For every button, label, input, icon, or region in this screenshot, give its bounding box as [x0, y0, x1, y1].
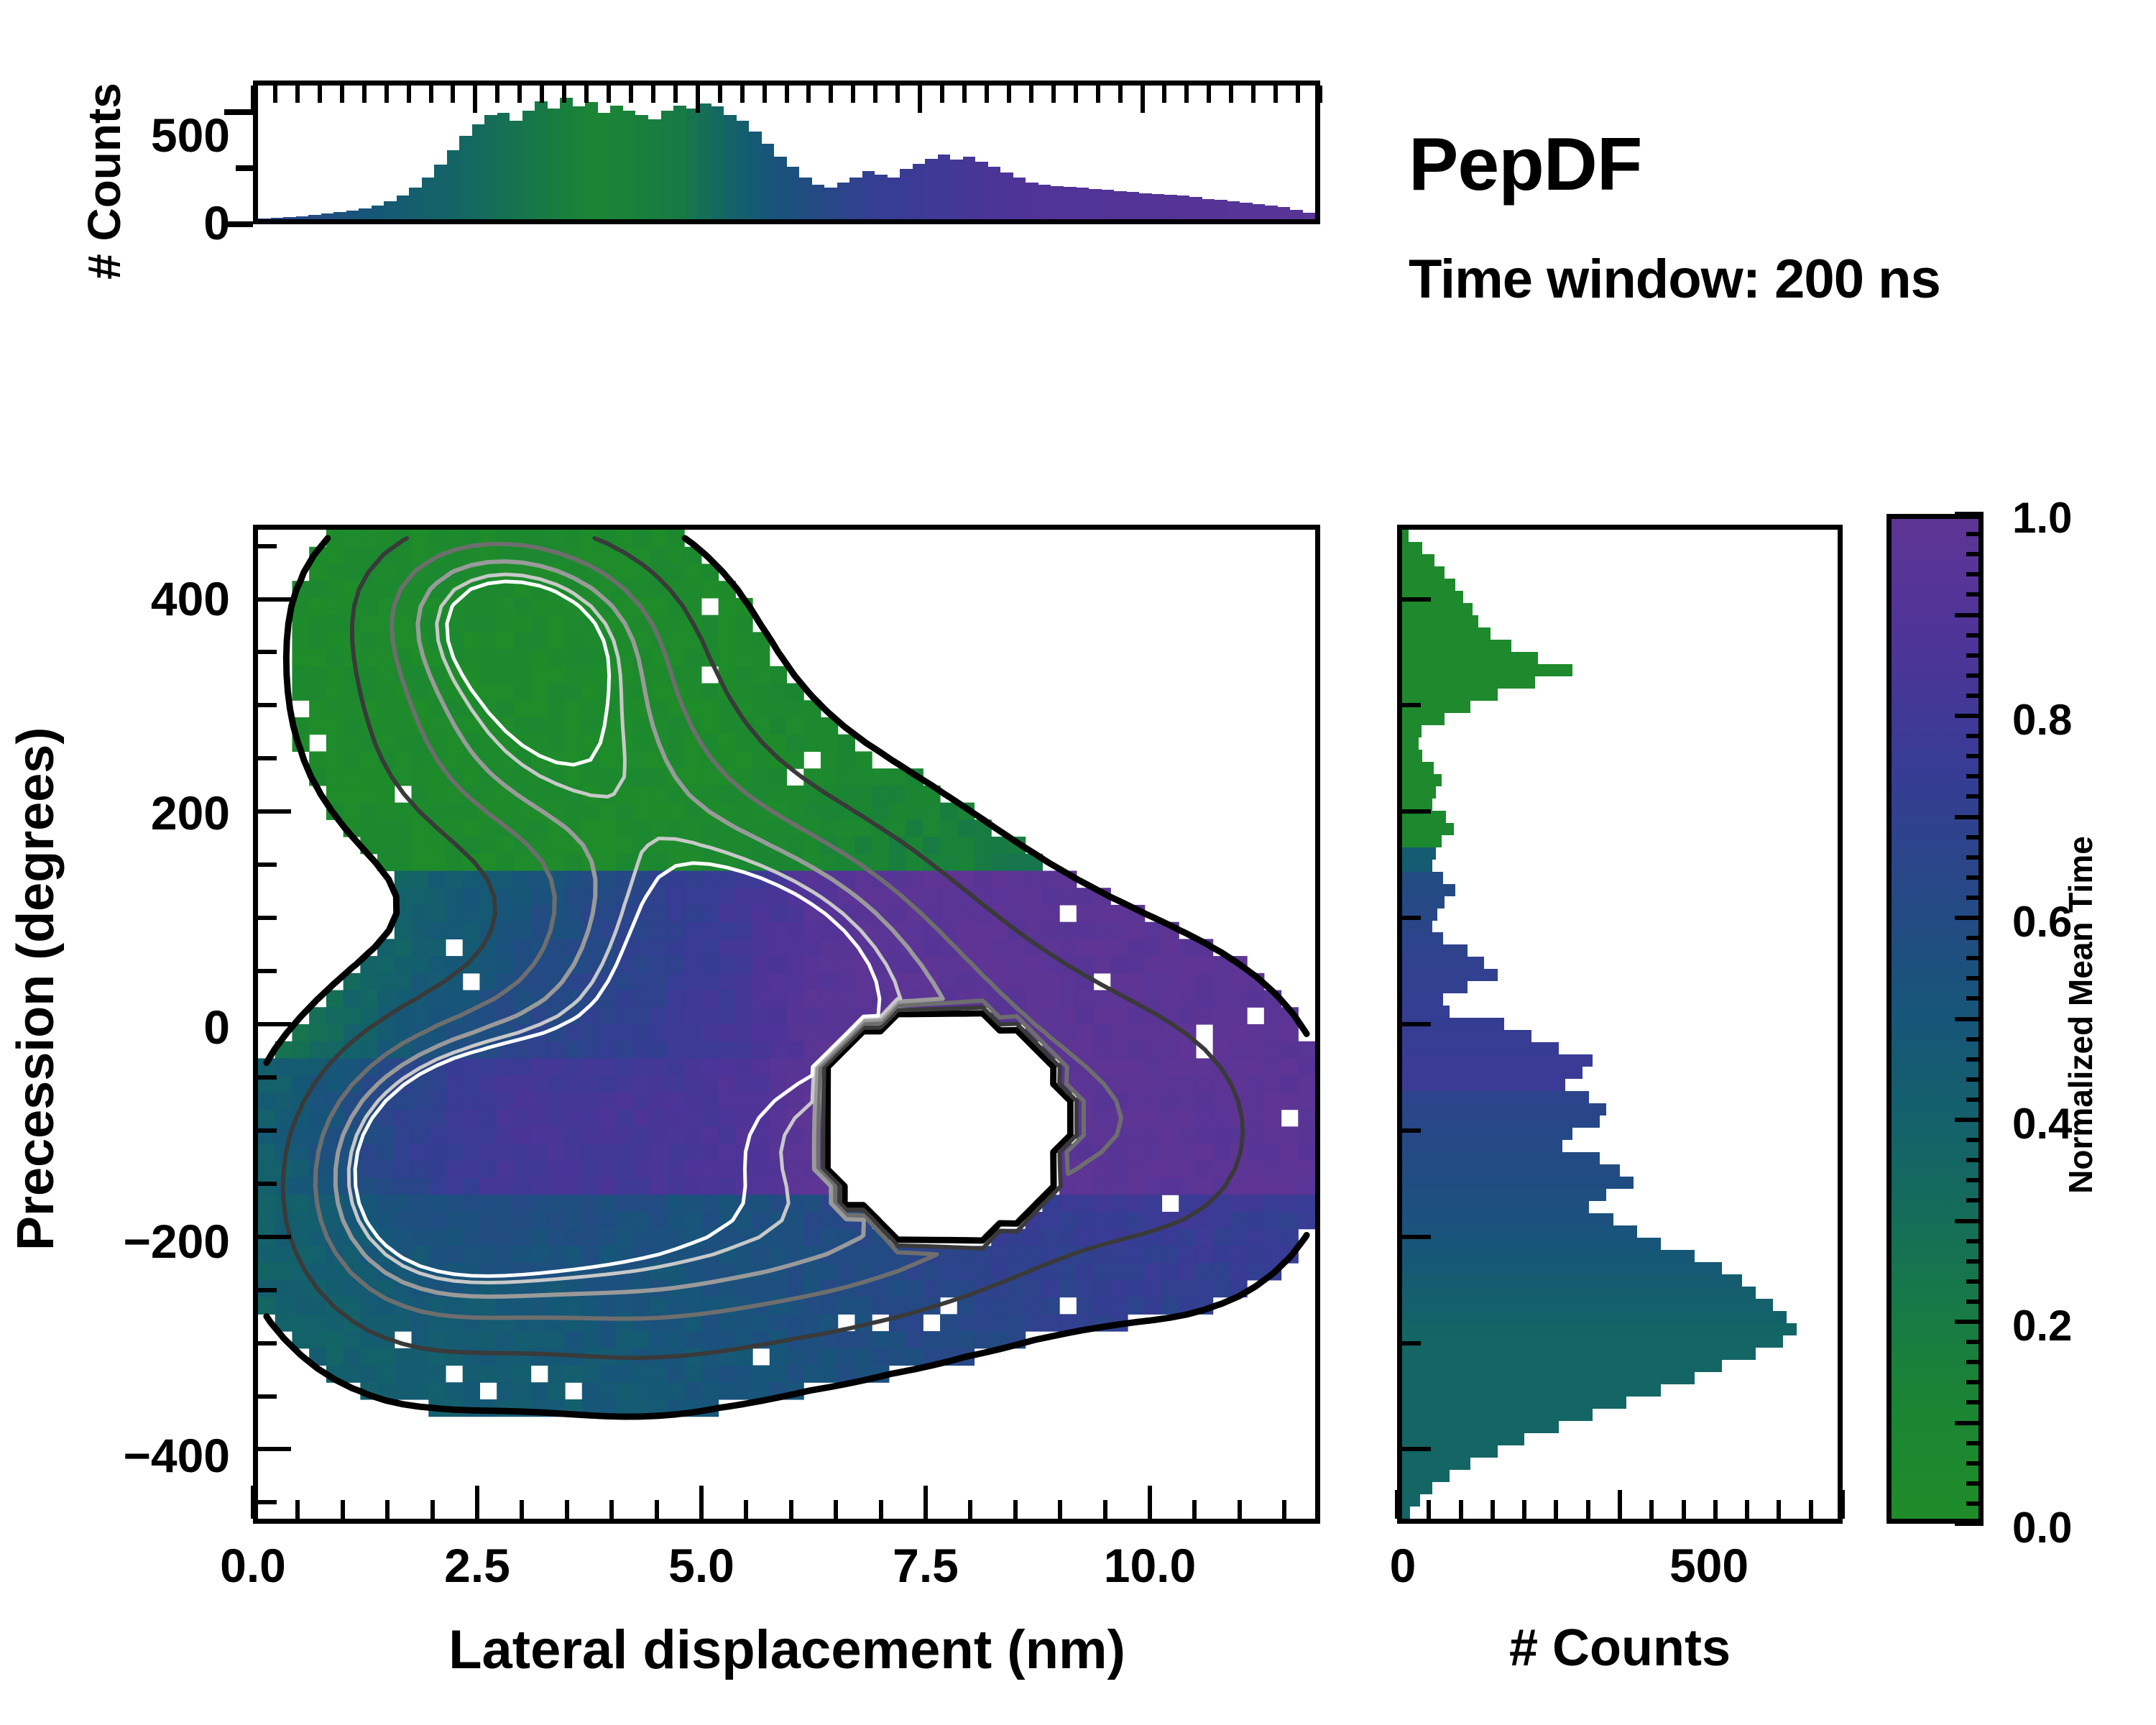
- main-xtick-10: 10.0: [1078, 1538, 1222, 1593]
- histogram-bar: [1127, 192, 1140, 219]
- axis-tick: [258, 1394, 277, 1399]
- histogram-bar-h: [1402, 1079, 1565, 1091]
- axis-tick: [699, 1486, 704, 1519]
- colorbar-tick-mark: [1955, 1320, 1984, 1324]
- axis-tick-minor: [673, 86, 678, 103]
- histogram-bar-h: [1402, 957, 1484, 969]
- histogram-bar: [925, 159, 938, 219]
- histogram-bar-h: [1402, 1360, 1722, 1372]
- histogram-bar-h: [1402, 774, 1442, 786]
- histogram-bar: [497, 113, 510, 219]
- axis-tick: [609, 1500, 614, 1519]
- histogram-bar: [409, 188, 422, 219]
- histogram-bar: [1114, 191, 1127, 219]
- axis-tick: [1103, 1500, 1107, 1519]
- histogram-bar-h: [1402, 579, 1455, 591]
- histogram-bar: [950, 160, 963, 219]
- histogram-bar-h: [1402, 884, 1455, 896]
- colorbar-tick-mark: [1966, 754, 1984, 758]
- axis-tick: [258, 650, 277, 654]
- axis-tick-minor: [1273, 86, 1278, 103]
- histogram-bar-h: [1402, 530, 1409, 542]
- histogram-bar: [434, 165, 447, 219]
- axis-tick-minor: [473, 86, 477, 113]
- colorbar-tick-mark: [1966, 1077, 1984, 1082]
- colorbar-tick-0p0: 0.0: [2012, 1503, 2072, 1552]
- plot-title: PepDF: [1409, 122, 1641, 208]
- axis-tick: [341, 1500, 345, 1519]
- axis-tick: [258, 916, 277, 920]
- colorbar-tick-mark: [1966, 835, 1984, 839]
- histogram-bar-h: [1402, 762, 1434, 774]
- histogram-bar-h: [1402, 1238, 1661, 1250]
- colorbar-label: Normalized Mean Time: [2061, 836, 2100, 1194]
- axis-tick-minor: [1296, 86, 1300, 103]
- axis-tick-minor: [651, 86, 655, 103]
- histogram-bar-h: [1402, 1213, 1613, 1225]
- histogram-bar: [888, 178, 900, 219]
- histogram-bar-h: [1402, 799, 1432, 811]
- axis-tick-minor: [362, 86, 367, 103]
- colorbar-tick-mark: [1966, 1178, 1984, 1182]
- axis-tick: [258, 809, 291, 814]
- histogram-bar-h: [1402, 1482, 1432, 1494]
- axis-tick: [258, 756, 277, 760]
- histogram-bar: [548, 109, 561, 219]
- axis-tick: [224, 221, 253, 227]
- histogram-bar: [447, 150, 460, 219]
- colorbar-tick-mark: [1966, 532, 1984, 536]
- colorbar-tick-mark: [1966, 1299, 1984, 1304]
- histogram-bar: [585, 102, 598, 219]
- histogram-bar: [598, 113, 611, 219]
- axis-tick-minor: [1029, 86, 1033, 103]
- axis-tick-minor: [1074, 86, 1078, 103]
- axis-tick-minor: [1096, 86, 1100, 103]
- histogram-bar: [900, 169, 913, 219]
- axis-tick: [224, 109, 253, 115]
- histogram-bar: [372, 206, 384, 219]
- axis-tick-minor: [718, 86, 722, 103]
- axis-tick: [1459, 1500, 1463, 1519]
- histogram-bar: [472, 124, 485, 219]
- axis-tick-minor: [1207, 86, 1211, 103]
- histogram-bar: [535, 101, 548, 219]
- axis-tick-minor: [962, 86, 967, 103]
- histogram-bar: [573, 106, 586, 219]
- axis-tick: [520, 1500, 524, 1519]
- histogram-bar: [1278, 207, 1291, 219]
- axis-tick: [1586, 1500, 1590, 1519]
- histogram-bar: [422, 178, 435, 219]
- axis-tick: [1618, 1490, 1622, 1519]
- colorbar-tick-mark: [1955, 1421, 1984, 1425]
- axis-tick: [1395, 1490, 1399, 1519]
- axis-tick: [1841, 1490, 1845, 1519]
- histogram-bar-h: [1402, 1409, 1593, 1421]
- histogram-bar-h: [1402, 1030, 1531, 1042]
- histogram-bar: [988, 167, 1001, 219]
- histogram-bar-h: [1402, 737, 1419, 750]
- histogram-bar-h: [1402, 896, 1445, 908]
- axis-tick-minor: [495, 86, 499, 103]
- axis-tick: [258, 597, 291, 602]
- colorbar-tick-mark: [1966, 1198, 1984, 1202]
- axis-tick-minor: [940, 86, 944, 103]
- histogram-bar-h: [1402, 1335, 1783, 1348]
- axis-tick-minor: [1051, 86, 1056, 103]
- histogram-bar: [510, 121, 522, 219]
- colorbar-tick-mark: [1966, 1400, 1984, 1404]
- histogram-bar: [963, 157, 976, 219]
- histogram-bar-h: [1402, 1164, 1620, 1177]
- axis-tick-minor: [1318, 86, 1322, 103]
- axis-tick: [385, 1500, 390, 1519]
- axis-tick: [1013, 1500, 1018, 1519]
- colorbar-tick-mark: [1966, 875, 1984, 880]
- histogram-bar-h: [1402, 1433, 1524, 1445]
- colorbar-tick-mark: [1966, 592, 1984, 597]
- axis-tick: [1402, 597, 1431, 602]
- axis-tick: [295, 1500, 300, 1519]
- histogram-bar-h: [1402, 1470, 1450, 1482]
- colorbar-tick-1p0: 1.0: [2012, 493, 2072, 543]
- histogram-bar: [1202, 199, 1215, 219]
- histogram-bar: [610, 106, 623, 219]
- histogram-bar-h: [1402, 1384, 1661, 1397]
- right-hist-xlabel: # Counts: [1397, 1619, 1843, 1678]
- colorbar-tick-mark: [1966, 1239, 1984, 1243]
- axis-tick-minor: [1251, 86, 1256, 103]
- right-histogram-bars: [1402, 530, 1838, 1519]
- colorbar-tick-mark: [1966, 653, 1984, 658]
- axis-tick-minor: [1162, 86, 1166, 103]
- colorbar-tick-mark: [1966, 1057, 1984, 1062]
- joint-heatmap-panel: [253, 525, 1320, 1524]
- axis-tick: [655, 1500, 659, 1519]
- histogram-bar: [1290, 210, 1303, 219]
- main-xtick-5: 5.0: [630, 1538, 773, 1593]
- histogram-bar-h: [1402, 1006, 1450, 1018]
- axis-tick-minor: [540, 86, 544, 103]
- histogram-bar: [1265, 206, 1278, 219]
- histogram-bar: [737, 121, 750, 219]
- histogram-bar: [271, 218, 284, 219]
- right-hist-xtick-0: 0: [1338, 1538, 1468, 1593]
- histogram-bar: [1013, 178, 1026, 219]
- axis-tick-minor: [451, 86, 455, 103]
- histogram-bar: [673, 106, 686, 219]
- histogram-bar: [661, 111, 674, 219]
- right-hist-xtick-500: 500: [1644, 1538, 1774, 1593]
- axis-tick-minor: [429, 86, 433, 103]
- histogram-bar-h: [1402, 640, 1511, 652]
- top-hist-ytick-500: 500: [144, 108, 230, 162]
- histogram-bar-h: [1402, 725, 1422, 737]
- colorbar-tick-mark: [1955, 1522, 1984, 1526]
- colorbar-tick-0p8: 0.8: [2012, 695, 2072, 745]
- heatmap-surface: [258, 530, 1315, 1519]
- histogram-bar-h: [1402, 823, 1454, 835]
- histogram-bar: [522, 111, 535, 219]
- histogram-bar-h: [1402, 689, 1498, 701]
- histogram-bar-h: [1402, 1494, 1420, 1506]
- axis-tick: [1402, 916, 1421, 920]
- axis-tick-minor: [517, 86, 522, 103]
- histogram-bar: [1215, 200, 1227, 219]
- colorbar-tick-mark: [1966, 976, 1984, 980]
- histogram-bar-h: [1402, 1115, 1600, 1128]
- axis-tick: [430, 1500, 435, 1519]
- axis-tick: [258, 1500, 277, 1504]
- axis-tick: [1402, 1022, 1431, 1026]
- axis-tick: [258, 1182, 277, 1186]
- axis-tick: [258, 1022, 291, 1026]
- histogram-bar-h: [1402, 1311, 1787, 1323]
- histogram-bar: [296, 216, 309, 219]
- axis-tick: [1649, 1500, 1654, 1519]
- histogram-bar: [1303, 213, 1316, 219]
- histogram-bar: [1164, 195, 1177, 219]
- histogram-bar: [837, 183, 850, 219]
- histogram-bar-h: [1402, 1348, 1756, 1360]
- axis-tick: [1427, 1500, 1431, 1519]
- histogram-bar-h: [1402, 969, 1498, 981]
- top-hist-ytick-0: 0: [172, 195, 230, 250]
- histogram-bar: [648, 119, 661, 220]
- histogram-bar-h: [1402, 542, 1422, 554]
- colorbar-tick-mark: [1966, 552, 1984, 556]
- axis-tick: [1554, 1500, 1558, 1519]
- histogram-bar-h: [1402, 1189, 1606, 1201]
- axis-tick: [834, 1500, 838, 1519]
- colorbar-tick-mark: [1955, 916, 1984, 920]
- histogram-bar: [724, 115, 737, 219]
- histogram-bar-h: [1402, 615, 1478, 627]
- histogram-bar-h: [1402, 1421, 1559, 1433]
- axis-tick-minor: [1007, 86, 1011, 103]
- figure-canvas: 500 0 # Counts PepDF Time window: 200 ns…: [0, 0, 2156, 1725]
- histogram-bar: [711, 106, 724, 219]
- axis-tick-minor: [340, 86, 344, 103]
- histogram-bar: [258, 218, 271, 219]
- histogram-bar-h: [1402, 1274, 1742, 1287]
- colorbar-tick-mark: [1955, 714, 1984, 718]
- histogram-bar-h: [1402, 603, 1473, 615]
- histogram-bar-h: [1402, 1177, 1634, 1189]
- axis-tick-minor: [295, 86, 300, 103]
- histogram-bar-h: [1402, 664, 1572, 676]
- histogram-bar: [1152, 194, 1165, 219]
- histogram-bar: [1227, 201, 1240, 219]
- histogram-bar-h: [1402, 1250, 1695, 1262]
- axis-tick-minor: [1118, 86, 1123, 103]
- histogram-bar-h: [1402, 1287, 1756, 1299]
- axis-tick: [258, 1235, 291, 1239]
- histogram-bar: [1089, 189, 1102, 219]
- histogram-bar-h: [1402, 1128, 1572, 1140]
- histogram-bar-h: [1402, 554, 1434, 566]
- right-marginal-histogram: [1397, 525, 1843, 1524]
- colorbar-tick-mark: [1966, 1481, 1984, 1486]
- colorbar-tick-mark: [1966, 1158, 1984, 1162]
- axis-tick-minor: [251, 86, 255, 113]
- histogram-bar: [849, 178, 862, 219]
- histogram-bar: [1240, 203, 1253, 219]
- histogram-bar-h: [1402, 750, 1422, 762]
- histogram-bar: [762, 144, 775, 219]
- histogram-bar-h: [1402, 1323, 1797, 1335]
- axis-tick-minor: [407, 86, 411, 103]
- main-xtick-7p5: 7.5: [854, 1538, 998, 1593]
- axis-tick: [1522, 1500, 1526, 1519]
- histogram-bar: [333, 212, 346, 219]
- axis-tick-minor: [806, 86, 811, 103]
- histogram-bar: [913, 164, 926, 219]
- histogram-bar-h: [1402, 981, 1468, 993]
- colorbar-tick-0p2: 0.2: [2012, 1301, 2072, 1351]
- histogram-bar: [812, 185, 825, 219]
- histogram-bar-h: [1402, 1372, 1695, 1384]
- axis-tick-minor: [384, 86, 389, 103]
- axis-tick: [1402, 703, 1421, 707]
- histogram-bar: [1064, 187, 1077, 219]
- histogram-bar-h: [1402, 1225, 1637, 1238]
- axis-tick: [1238, 1500, 1242, 1519]
- colorbar-tick-mark: [1966, 633, 1984, 638]
- histogram-bar-h: [1402, 835, 1442, 847]
- axis-tick: [1491, 1500, 1495, 1519]
- histogram-bar-h: [1402, 713, 1445, 725]
- histogram-bar-h: [1402, 786, 1436, 799]
- histogram-bar: [1077, 188, 1089, 219]
- axis-tick: [251, 1486, 255, 1519]
- colorbar-tick-mark: [1966, 1441, 1984, 1445]
- axis-tick: [1713, 1500, 1718, 1519]
- histogram-bar: [346, 211, 359, 219]
- axis-tick-minor: [829, 86, 833, 103]
- histogram-bar-h: [1402, 847, 1436, 860]
- colorbar-tick-mark: [1966, 1380, 1984, 1384]
- histogram-bar-h: [1402, 566, 1445, 579]
- axis-tick: [258, 1128, 277, 1133]
- histogram-bar: [699, 103, 711, 219]
- axis-tick: [258, 969, 277, 973]
- axis-tick-minor: [918, 86, 922, 113]
- axis-tick: [1282, 1500, 1286, 1519]
- histogram-bar-h: [1402, 1299, 1773, 1311]
- colorbar-tick-mark: [1966, 1098, 1984, 1102]
- axis-tick: [258, 862, 277, 867]
- colorbar-tick-mark: [1966, 673, 1984, 678]
- axis-tick: [258, 1447, 291, 1451]
- colorbar-tick-mark: [1966, 774, 1984, 778]
- main-xtick-0: 0.0: [181, 1538, 325, 1593]
- colorbar-tick-mark: [1966, 1279, 1984, 1284]
- histogram-bar-h: [1402, 993, 1443, 1006]
- histogram-bar: [560, 98, 573, 219]
- histogram-bar: [686, 109, 699, 219]
- histogram-bar-h: [1402, 1140, 1562, 1152]
- histogram-bar-h: [1402, 1054, 1593, 1067]
- histogram-bar: [824, 188, 837, 219]
- histogram-bar-h: [1402, 676, 1535, 689]
- axis-tick: [258, 703, 277, 707]
- histogram-bar-h: [1402, 1067, 1583, 1079]
- main-ytick-m200: −200: [43, 1214, 230, 1269]
- histogram-bar: [787, 167, 800, 219]
- axis-tick: [1402, 1235, 1431, 1239]
- main-ylabel: Precession (degrees): [6, 747, 65, 1251]
- histogram-bar-h: [1402, 1506, 1410, 1519]
- main-ytick-200: 200: [79, 786, 230, 840]
- axis-tick: [923, 1486, 928, 1519]
- axis-tick: [1682, 1500, 1686, 1519]
- colorbar-tick-mark: [1966, 1360, 1984, 1364]
- colorbar-tick-mark: [1966, 996, 1984, 1000]
- histogram-bar: [1102, 190, 1115, 219]
- axis-tick: [1745, 1500, 1749, 1519]
- colorbar-tick-mark: [1955, 512, 1984, 516]
- axis-tick-minor: [562, 86, 566, 103]
- histogram-bar: [862, 171, 875, 219]
- histogram-bar-h: [1402, 944, 1468, 957]
- colorbar-tick-mark: [1955, 1118, 1984, 1122]
- colorbar-tick-mark: [1966, 572, 1984, 576]
- histogram-bar-h: [1402, 1397, 1626, 1409]
- colorbar-tick-mark: [1966, 1340, 1984, 1344]
- axis-tick-minor: [740, 86, 745, 103]
- axis-tick: [1058, 1500, 1062, 1519]
- axis-tick: [1192, 1500, 1197, 1519]
- axis-tick: [879, 1500, 883, 1519]
- axis-tick-minor: [1184, 86, 1189, 103]
- histogram-bar: [1189, 197, 1202, 219]
- histogram-bar: [1000, 172, 1013, 219]
- histogram-bar: [1177, 195, 1190, 219]
- axis-tick: [475, 1486, 479, 1519]
- histogram-bar: [484, 115, 497, 219]
- histogram-bar-h: [1402, 1201, 1589, 1213]
- histogram-bar-h: [1402, 932, 1443, 944]
- histogram-bar: [1253, 204, 1266, 220]
- histogram-bar: [321, 213, 334, 219]
- histogram-bar: [975, 162, 988, 219]
- axis-tick-minor: [763, 86, 767, 103]
- axis-tick-minor: [696, 86, 700, 113]
- main-ytick-0: 0: [79, 1000, 230, 1054]
- histogram-bar: [384, 201, 397, 219]
- histogram-bar: [283, 217, 296, 219]
- histogram-bar: [1038, 185, 1051, 219]
- histogram-bar: [359, 208, 372, 219]
- main-xtick-2p5: 2.5: [405, 1538, 549, 1593]
- colorbar-tick-mark: [1966, 855, 1984, 860]
- axis-tick-minor: [607, 86, 611, 103]
- top-hist-ylabel: # Counts: [78, 63, 131, 300]
- axis-tick-minor: [1229, 86, 1233, 103]
- histogram-bar-h: [1402, 921, 1432, 933]
- axis-tick-minor: [851, 86, 855, 103]
- colorbar-tick-mark: [1966, 1037, 1984, 1041]
- axis-tick: [1777, 1500, 1781, 1519]
- axis-tick-minor: [873, 86, 877, 103]
- axis-tick: [565, 1500, 569, 1519]
- top-histogram-bars: [258, 86, 1315, 219]
- axis-tick: [1402, 1447, 1431, 1451]
- histogram-bar-h: [1402, 872, 1443, 884]
- histogram-bar-h: [1402, 1262, 1722, 1274]
